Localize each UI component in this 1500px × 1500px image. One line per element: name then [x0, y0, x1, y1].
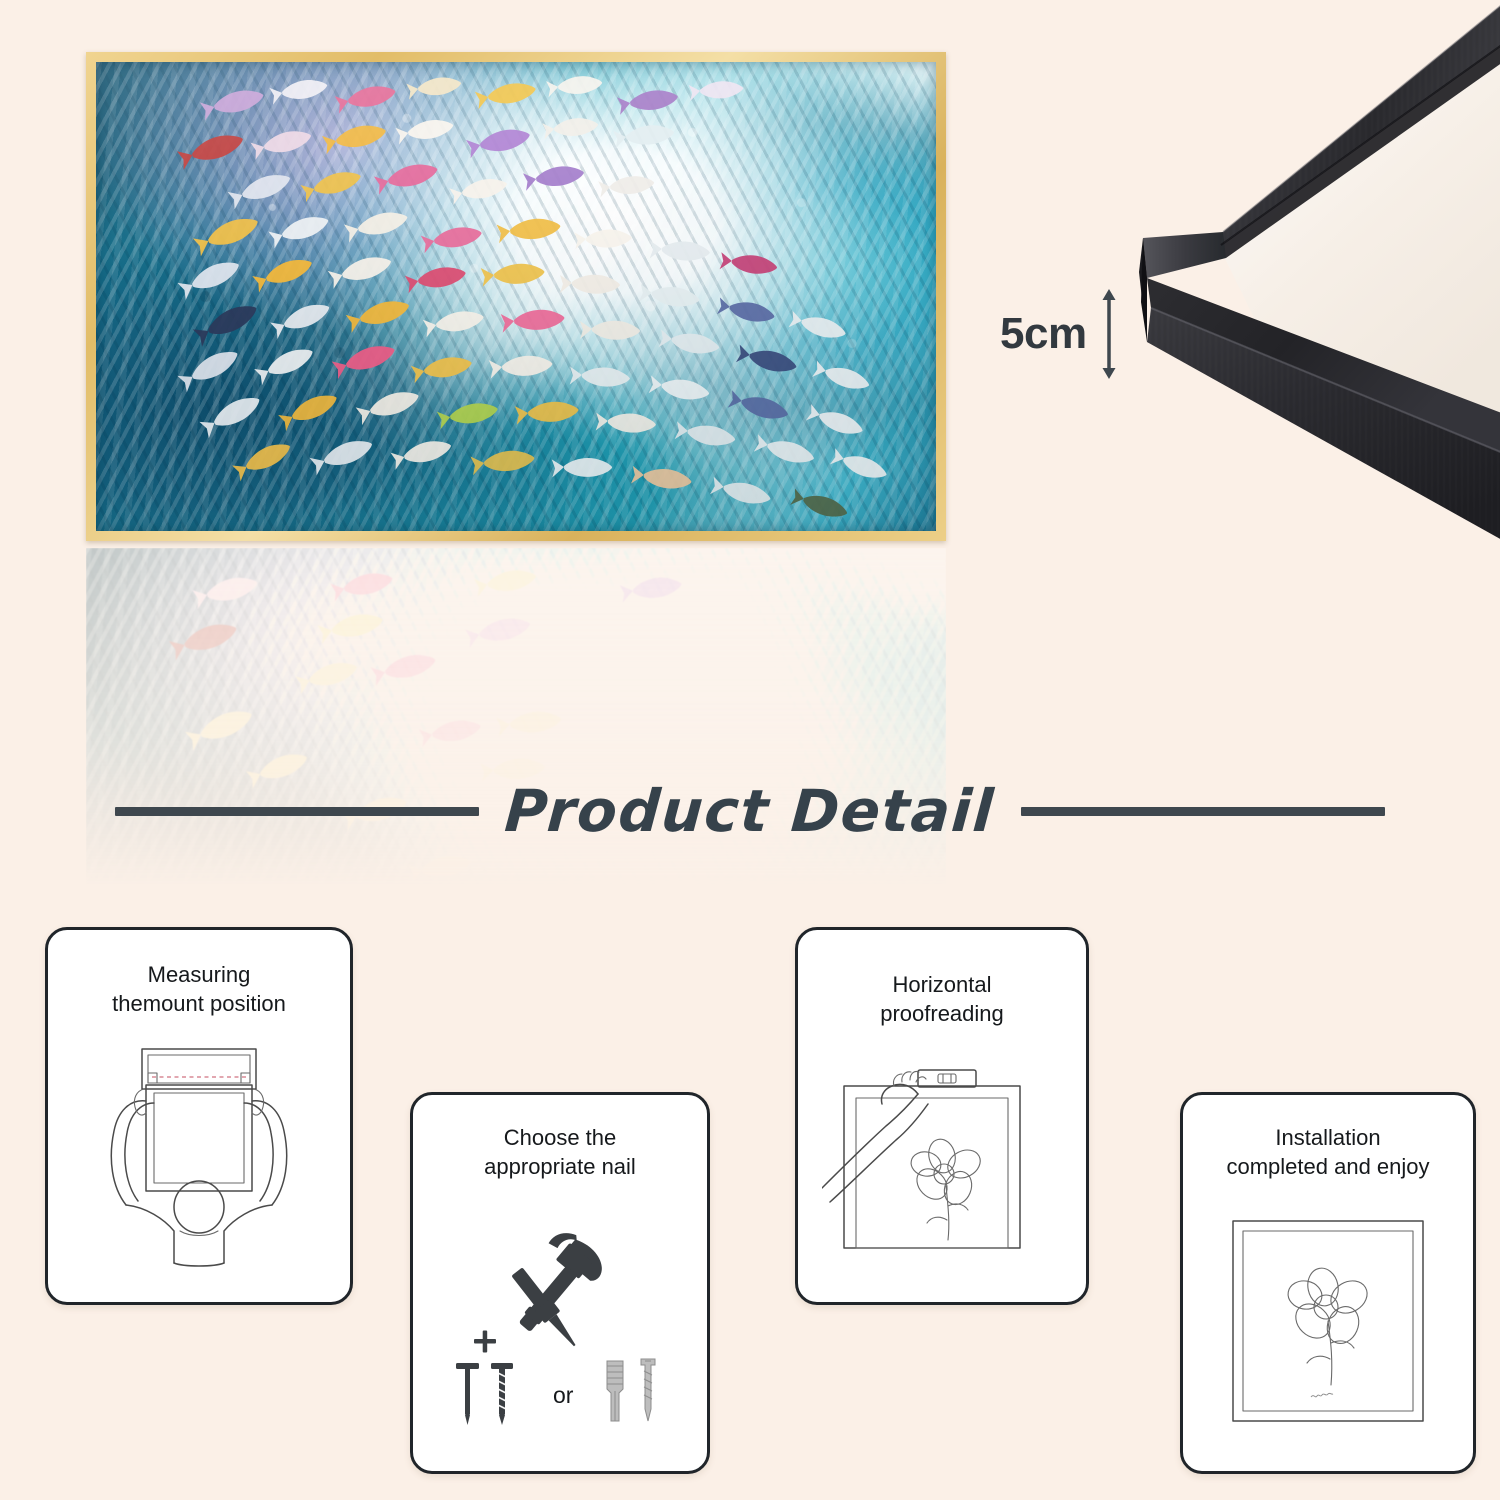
hammer-nails-and-anchors-icon: or	[413, 1181, 707, 1471]
vertical-double-arrow-icon	[1101, 288, 1117, 380]
card-title: Measuring themount position	[98, 960, 300, 1018]
depth-label: 5cm	[1000, 312, 1087, 356]
instruction-card-horizontal-proofreading[interactable]: Horizontal proofreading	[795, 927, 1089, 1305]
or-label: or	[553, 1382, 574, 1408]
card-title-line2: appropriate nail	[484, 1152, 636, 1181]
instruction-card-installation-complete[interactable]: Installation completed and enjoy	[1180, 1092, 1476, 1474]
artwork-canvas	[96, 62, 936, 531]
product-detail-page: 5cm	[0, 0, 1500, 1500]
card-title-line2: themount position	[112, 989, 286, 1018]
card-title-line1: Installation	[1226, 1123, 1429, 1152]
card-title: Installation completed and enjoy	[1212, 1123, 1443, 1181]
card-title-line1: Measuring	[112, 960, 286, 989]
person-holding-frame-with-ruler-icon	[48, 1018, 350, 1302]
card-title-line1: Horizontal	[880, 970, 1004, 999]
framed-artwork[interactable]	[86, 52, 946, 541]
black-wood-frame-corner	[1125, 0, 1500, 590]
section-heading: Product Detail	[0, 768, 1500, 854]
card-title: Choose the appropriate nail	[470, 1123, 650, 1181]
heading-rule-right	[1021, 807, 1385, 816]
card-title-line2: proofreading	[880, 999, 1004, 1028]
instruction-card-measuring[interactable]: Measuring themount position	[45, 927, 353, 1305]
depth-callout: 5cm	[1000, 288, 1117, 380]
page-title: Product Detail	[503, 777, 997, 845]
canvas-vignette	[96, 62, 936, 531]
card-title-line2: completed and enjoy	[1226, 1152, 1429, 1181]
hand-with-spirit-level-icon	[798, 1028, 1086, 1302]
card-title: Horizontal proofreading	[866, 970, 1018, 1028]
card-title-line1: Choose the	[484, 1123, 636, 1152]
instruction-card-choose-nail[interactable]: Choose the appropriate nail	[410, 1092, 710, 1474]
mounted-framed-flower-icon	[1183, 1181, 1473, 1471]
heading-rule-left	[115, 807, 479, 816]
